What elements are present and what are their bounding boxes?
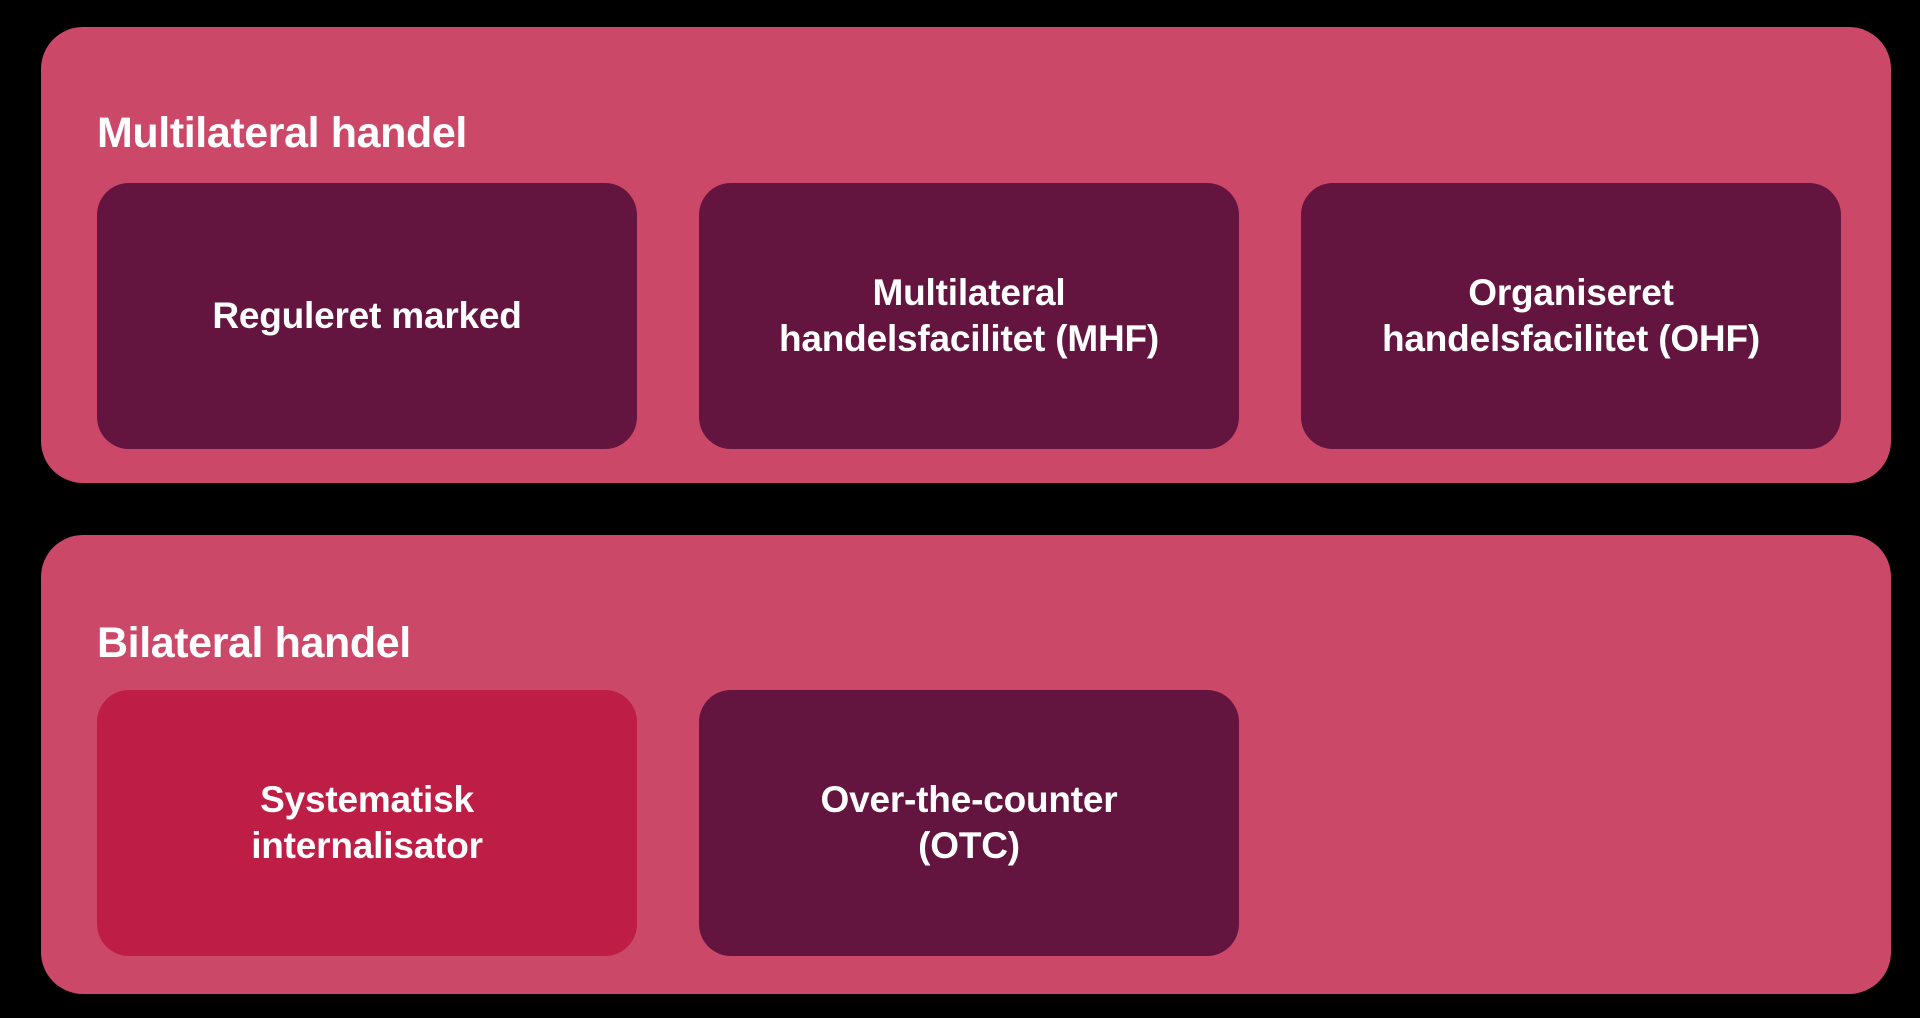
card-label-ohf: Organiseret handelsfacilitet (OHF) bbox=[1382, 270, 1760, 363]
card-row-multilateral: Reguleret marked Multilateral handelsfac… bbox=[97, 183, 1841, 449]
group-multilateral-handel: Multilateral handel Reguleret marked Mul… bbox=[41, 27, 1891, 483]
group-title-bilateral: Bilateral handel bbox=[97, 621, 411, 666]
card-label-mhf: Multilateral handelsfacilitet (MHF) bbox=[779, 270, 1159, 363]
card-label-systematisk-internalisator: Systematisk internalisator bbox=[251, 777, 483, 870]
card-label-reguleret-marked: Reguleret marked bbox=[212, 293, 521, 339]
card-row-bilateral: Systematisk internalisator Over-the-coun… bbox=[97, 690, 1239, 956]
card-multilateral-handelsfacilitet-mhf[interactable]: Multilateral handelsfacilitet (MHF) bbox=[699, 183, 1239, 449]
card-reguleret-marked[interactable]: Reguleret marked bbox=[97, 183, 637, 449]
card-organiseret-handelsfacilitet-ohf[interactable]: Organiseret handelsfacilitet (OHF) bbox=[1301, 183, 1841, 449]
group-title-multilateral: Multilateral handel bbox=[97, 111, 467, 156]
card-over-the-counter-otc[interactable]: Over-the-counter (OTC) bbox=[699, 690, 1239, 956]
card-label-otc: Over-the-counter (OTC) bbox=[821, 777, 1118, 870]
group-bilateral-handel: Bilateral handel Systematisk internalisa… bbox=[41, 535, 1891, 994]
card-systematisk-internalisator[interactable]: Systematisk internalisator bbox=[97, 690, 637, 956]
diagram-canvas: Multilateral handel Reguleret marked Mul… bbox=[0, 0, 1920, 1018]
